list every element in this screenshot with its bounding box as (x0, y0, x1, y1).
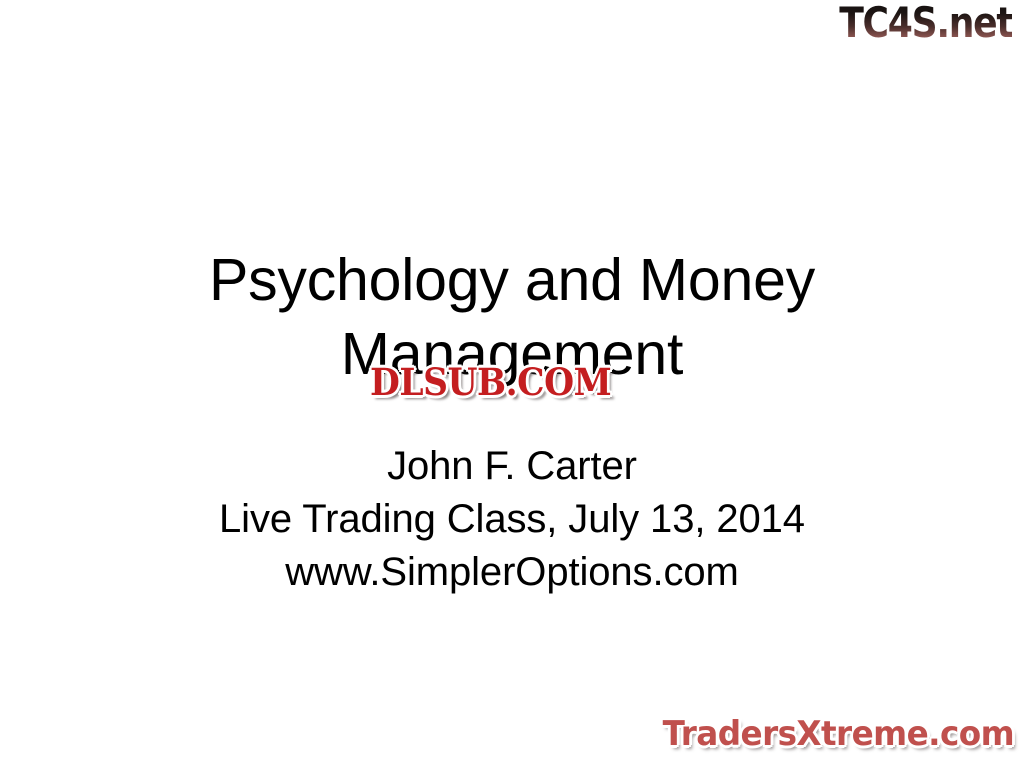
watermark-tc4s-net: TC4S.net (839, 1, 1012, 45)
watermark-dlsub-com: DLSUB.COM (370, 362, 611, 402)
subtitle-event: Live Trading Class, July 13, 2014 (110, 493, 914, 546)
subtitle-presenter: John F. Carter (110, 440, 914, 493)
subtitle-website: www.SimplerOptions.com (110, 546, 914, 599)
subtitle-block: John F. Carter Live Trading Class, July … (110, 440, 914, 599)
presentation-slide: TC4S.net Psychology and Money Management… (0, 0, 1024, 768)
watermark-tradersxtreme-com: TradersXtreme.com (663, 716, 1014, 752)
